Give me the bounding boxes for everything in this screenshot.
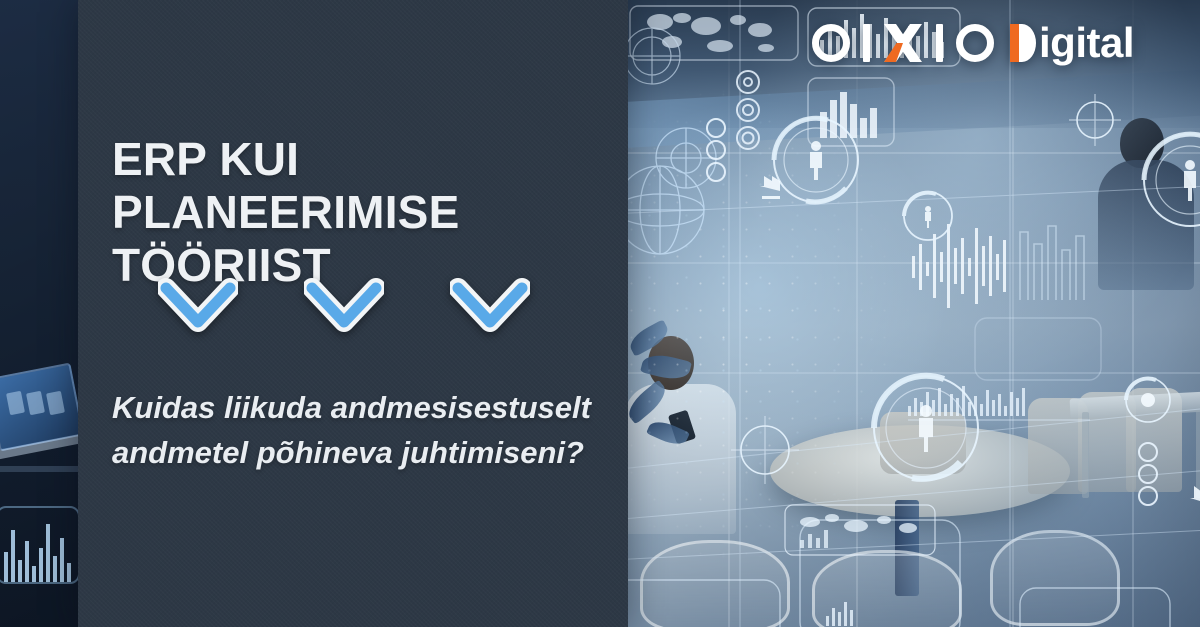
chevron-down-icon [450,278,530,340]
oixio-digital-logo[interactable]: igital [812,22,1134,64]
desk-shelf [0,466,90,472]
logo-wordmark: igital [1009,22,1134,64]
hud-panel-bottom-left [0,506,80,584]
letter-o-icon [956,24,994,62]
left-photo-strip [0,0,90,627]
chevron-down-icon [158,278,238,340]
page-title: ERP kui planeerimise tööriist [112,133,582,292]
logo-wordmark-rest: igital [1039,22,1134,64]
letter-i-icon [863,24,870,62]
marketing-banner: ERP kui planeerimise tööriist Kuidas lii… [0,0,1200,627]
letter-o-icon [812,24,850,62]
chevron-group [158,278,530,340]
letter-i-icon [936,24,943,62]
hud-overlay [620,0,1200,627]
logo-letter-d [1009,22,1039,64]
page-subtitle: Kuidas liikuda andmesisestuselt andmetel… [112,385,612,476]
oixio-logomark [812,24,994,62]
chevron-down-icon [304,278,384,340]
letter-x-icon [883,24,923,62]
